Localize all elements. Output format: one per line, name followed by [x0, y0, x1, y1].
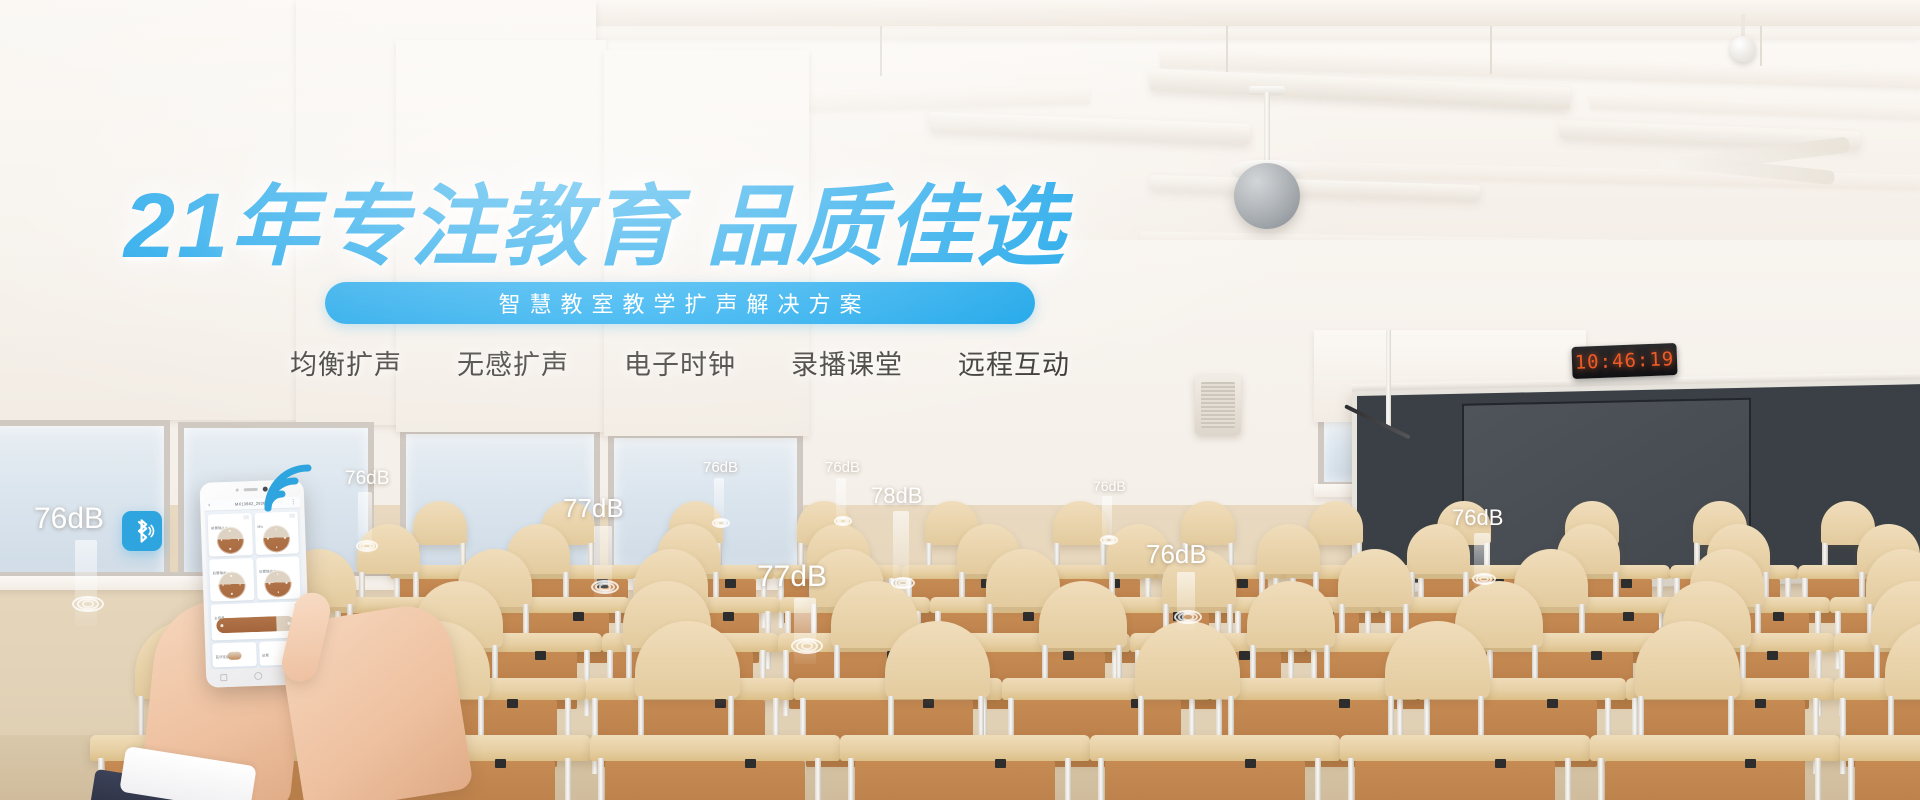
student-desk: [1590, 690, 1840, 800]
headline-number: 21: [124, 175, 230, 277]
student-desk: [1340, 690, 1590, 800]
banner-stage: 10:46:19 76dB76dB77dB76dB76dB78dB77dB76d…: [0, 0, 1920, 800]
db-ripple-ring: [599, 583, 610, 590]
knob-tick: [278, 591, 280, 593]
mic-pole: [1386, 330, 1391, 428]
db-label: 76dB: [825, 459, 860, 476]
student-desk: [590, 690, 840, 800]
knob-tick: [221, 539, 223, 541]
knob-tick: [238, 539, 240, 541]
desk-leg: [1065, 758, 1071, 800]
headline-block: 21年专注教育品质佳选: [0, 180, 1190, 272]
desk-clip: [995, 759, 1006, 768]
desk-top: [1090, 735, 1340, 761]
phone-sensor-dot: [236, 488, 239, 491]
knob-tick: [269, 582, 271, 584]
knob-card-2[interactable]: MIc: [254, 511, 299, 554]
desk-top: [1590, 735, 1840, 761]
desk-front-panel: [1355, 761, 1555, 800]
ceiling-speaker-rod: [1264, 92, 1270, 170]
knob-card-grid: 前置输入AMIc后置输出一后置输出二: [204, 508, 303, 604]
student-desk: [1840, 690, 1920, 800]
desk-leg: [1598, 758, 1604, 800]
bottom-card-1[interactable]: 蓝牙连接: [212, 642, 256, 668]
knob-tick: [229, 548, 231, 550]
knob-card-4[interactable]: 后置输出二: [256, 556, 301, 599]
db-label: 78dB: [871, 483, 922, 509]
desk-clip: [745, 759, 756, 768]
db-ripple-ring: [1105, 537, 1113, 543]
knob-tick: [286, 582, 288, 584]
wall-speaker-grill: [1201, 382, 1235, 428]
student-desk: [1090, 690, 1340, 800]
chevron-left-icon[interactable]: ‹: [208, 502, 210, 508]
knob-tick: [239, 583, 241, 585]
knob-tick: [222, 584, 224, 586]
phone-earpiece: [244, 487, 258, 490]
knob-tick: [284, 537, 286, 539]
feature-item-1: 均衡扩声: [290, 343, 402, 382]
digital-clock: 10:46:19: [1571, 343, 1677, 379]
feature-item-5: 远程互动: [958, 343, 1070, 382]
desk-top: [590, 735, 840, 761]
desk-top: [840, 735, 1090, 761]
db-label: 76dB: [703, 459, 738, 476]
db-ripple-ring: [839, 518, 847, 524]
db-label: 76dB: [345, 468, 389, 490]
rotary-knob[interactable]: [216, 526, 244, 554]
nav-circle-icon[interactable]: [254, 672, 262, 680]
desk-leg: [598, 758, 604, 800]
light-wire: [1760, 26, 1762, 66]
headline-part2: 品质佳选: [706, 177, 1066, 276]
desk-clip: [1745, 759, 1756, 768]
db-ripple-ring: [362, 543, 371, 549]
feature-item-3: 电子时钟: [624, 343, 736, 382]
app-title: MX13682_2926: [235, 501, 266, 507]
desk-leg: [565, 758, 571, 800]
subtitle-text: 智慧教室教学扩声解决方案: [489, 287, 870, 319]
feature-item-4: 录播课堂: [791, 343, 903, 382]
ceiling-sensor: [1730, 36, 1756, 62]
db-label: 77dB: [563, 493, 624, 524]
desk-front-panel: [605, 761, 805, 800]
feature-list: 均衡扩声无感扩声电子时钟录播课堂远程互动: [290, 343, 1070, 382]
desk-leg: [1098, 758, 1104, 800]
desk-leg: [848, 758, 854, 800]
chair-back: [1053, 501, 1107, 545]
desk-leg: [1848, 758, 1854, 800]
ceiling-speaker: [1234, 163, 1300, 229]
rotary-knob[interactable]: [263, 525, 291, 553]
wifi-signal-icon: [243, 515, 248, 519]
headline-part1: 年专注教育: [230, 177, 680, 276]
rotary-knob[interactable]: [264, 570, 292, 598]
knob-tick: [229, 530, 231, 532]
knob-card-label: MIc: [257, 525, 263, 529]
knob-tick: [231, 593, 233, 595]
desk-leg: [1565, 758, 1571, 800]
student-desk: [840, 690, 1090, 800]
volume-slider-fill: [216, 616, 277, 633]
knob-tick: [277, 573, 279, 575]
knob-tick: [267, 537, 269, 539]
desk-clip: [1245, 759, 1256, 768]
subtitle-banner: 智慧教室教学扩声解决方案: [325, 282, 1035, 324]
desk-front-panel: [1105, 761, 1305, 800]
volume-slider-track[interactable]: [216, 616, 294, 634]
desk-front-panel: [1605, 761, 1805, 800]
db-ripple-ring: [82, 600, 95, 608]
knob-card-1[interactable]: 前置输入A: [208, 513, 253, 556]
desk-front-panel: [855, 761, 1055, 800]
light-wire: [880, 26, 882, 76]
desk-clip: [1495, 759, 1506, 768]
feature-item-2: 无感扩声: [457, 343, 569, 382]
db-label: 77dB: [757, 560, 827, 594]
db-ripple-ring: [1182, 613, 1193, 620]
db-ripple-ring: [717, 520, 725, 526]
page-title: 21年专注教育品质佳选: [0, 180, 1190, 272]
bluetooth-icon: [122, 511, 162, 551]
desk-clip: [495, 759, 506, 768]
wifi-signal-icon: [262, 462, 318, 512]
clock-digits: 10:46:19: [1574, 348, 1674, 374]
db-label: 76dB: [1146, 539, 1207, 570]
db-label: 76dB: [1452, 505, 1503, 531]
desk-leg: [1315, 758, 1321, 800]
db-label: 76dB: [34, 502, 104, 536]
wall-speaker: [1195, 375, 1241, 435]
chair-back: [413, 501, 467, 545]
desk-top: [1340, 735, 1590, 761]
knob-card-3[interactable]: 后置输出一: [209, 558, 254, 601]
toggle-switch[interactable]: [227, 652, 241, 660]
rotary-knob[interactable]: [218, 571, 246, 599]
knob-tick: [230, 575, 232, 577]
slider-dot-left: [220, 624, 223, 627]
desk-leg: [1348, 758, 1354, 800]
db-ripple-ring: [801, 642, 814, 650]
light-wire: [1490, 26, 1492, 74]
db-beam: [75, 540, 97, 626]
db-label: 76dB: [1093, 478, 1126, 494]
knob-tick: [275, 528, 277, 530]
desk-leg: [815, 758, 821, 800]
knob-tick: [276, 546, 278, 548]
chair-back: [1309, 501, 1363, 545]
desk-leg: [1815, 758, 1821, 800]
bottom-card-label: 设置: [262, 654, 269, 658]
nav-square-icon[interactable]: [220, 674, 227, 681]
desk-front-panel: [1855, 761, 1920, 800]
wifi-signal-icon: [290, 514, 295, 518]
